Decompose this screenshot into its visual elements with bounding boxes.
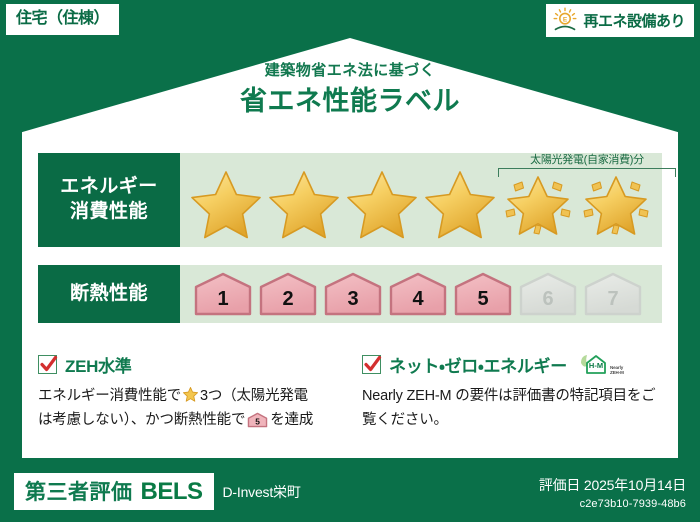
third-party-eval-label: 第三者評価 [25, 476, 133, 506]
sun-solar-icon: E [552, 7, 578, 33]
bels-plate: 第三者評価 BELS [14, 473, 214, 510]
inline-house-grade-value: 5 [256, 416, 261, 426]
insulation-grade-5-value: 5 [477, 288, 488, 310]
svg-text:E: E [563, 16, 568, 23]
zeh-standard-header: ZEH水準 [38, 352, 338, 376]
insulation-grade-2: 2 [257, 271, 319, 317]
zeh-criteria-grid: ZEH水準 エネルギー消費性能で3つ（太陽光発電は考慮しない）、かつ断熱性能で5… [38, 352, 662, 433]
bels-logo-text: BELS [141, 478, 203, 506]
building-name: D-Invest栄町 [223, 482, 301, 502]
insulation-grade-5: 5 [452, 271, 514, 317]
insulation-grade-1: 1 [192, 271, 254, 317]
insulation-grade-3-value: 3 [347, 288, 358, 310]
solar-annotation-label: 太陽光発電(自家消費)分 [498, 154, 676, 166]
energy-stars-area: 太陽光発電(自家消費)分 [180, 153, 662, 247]
insulation-performance-label-box: 断熱性能 [38, 265, 180, 323]
energy-star-6-solar [578, 167, 654, 241]
zeh-m-logo-text: H-M [589, 361, 603, 370]
insulation-grade-3: 3 [322, 271, 384, 317]
insulation-grade-6-value: 6 [542, 288, 553, 310]
house-type-badge: 住宅（住棟） [6, 4, 119, 35]
energy-label-line2: 消費性能 [70, 200, 148, 225]
insulation-grade-4: 4 [387, 271, 449, 317]
zeh-standard-description: エネルギー消費性能で3つ（太陽光発電は考慮しない）、かつ断熱性能で5を達成 [38, 385, 338, 433]
energy-performance-label-box: エネルギー 消費性能 [38, 153, 180, 247]
insulation-performance-row: 断熱性能 1 [38, 265, 662, 323]
inline-house-grade-icon: 5 [247, 412, 268, 428]
insulation-grades-area: 1 2 3 [180, 265, 662, 323]
zeh-desc-part1: エネルギー消費性能で [38, 388, 181, 404]
insulation-grade-strip: 1 2 3 [180, 271, 644, 317]
label-title-block: 建築物省エネ法に基づく 省エネ性能ラベル [0, 62, 700, 117]
energy-star-1 [188, 167, 264, 241]
insulation-grade-7-value: 7 [607, 288, 618, 310]
energy-star-4 [422, 167, 498, 241]
energy-label-line1: エネルギー [60, 175, 158, 200]
zeh-standard-title: ZEH水準 [65, 352, 132, 377]
footer-right-group: 評価日 2025年10月14日 c2e73b10-7939-48b6 [539, 475, 686, 510]
zeh-m-logo-caption: Nearly ZEH-M [610, 365, 624, 376]
net-zero-energy-block: ネット・ゼロ・エネルギー H-M Nearly ZEH-M Nearly ZEH… [362, 352, 662, 433]
zeh-m-caption-line2: ZEH-M [610, 370, 624, 375]
net-zero-energy-checkbox[interactable] [362, 355, 381, 374]
zeh-standard-block: ZEH水準 エネルギー消費性能で3つ（太陽光発電は考慮しない）、かつ断熱性能で5… [38, 352, 338, 433]
zeh-desc-part2: は考慮しない）、かつ断熱性能で [38, 412, 245, 428]
energy-star-5-solar [500, 167, 576, 241]
insulation-grade-4-value: 4 [412, 288, 424, 310]
label-subtitle: 建築物省エネ法に基づく [0, 62, 700, 80]
net-zero-energy-title: ネット・ゼロ・エネルギー [389, 352, 567, 377]
renewable-equipment-badge: E 再エネ設備あり [546, 4, 694, 37]
net-zero-energy-description: Nearly ZEH-M の要件は評価書の特記項目をご覧ください。 [362, 385, 662, 433]
energy-performance-row: エネルギー 消費性能 太陽光発電(自家消費)分 [38, 153, 662, 247]
footer-left-group: 第三者評価 BELS D-Invest栄町 [14, 473, 301, 510]
insulation-grade-2-value: 2 [282, 288, 293, 310]
label-main-title: 省エネ性能ラベル [0, 86, 700, 117]
insulation-grade-1-value: 1 [217, 288, 228, 310]
zeh-desc-part3: を達成 [270, 412, 313, 428]
inline-star-icon [182, 386, 199, 403]
energy-star-2 [266, 167, 342, 241]
zeh-m-caption-line1: Nearly [610, 365, 623, 370]
star-rating-strip [180, 167, 654, 241]
zeh-m-logo-icon: H-M Nearly ZEH-M [579, 352, 624, 376]
renewable-badge-label: 再エネ設備あり [583, 10, 685, 31]
zeh-standard-checkbox[interactable] [38, 355, 57, 374]
zeh-desc-star-count: 3つ（太陽光発電 [200, 388, 308, 404]
energy-star-3 [344, 167, 420, 241]
evaluation-date: 評価日 2025年10月14日 [539, 475, 686, 495]
insulation-label: 断熱性能 [70, 282, 148, 307]
house-type-badge-label: 住宅（住棟） [16, 10, 109, 27]
insulation-grade-6: 6 [517, 271, 579, 317]
insulation-grade-7: 7 [582, 271, 644, 317]
energy-performance-label: 住宅（住棟） E 再エネ設備あり 建築物省エネ法に基づく [0, 0, 700, 522]
net-zero-energy-header: ネット・ゼロ・エネルギー H-M Nearly ZEH-M [362, 352, 662, 376]
evaluation-id: c2e73b10-7939-48b6 [539, 498, 686, 510]
